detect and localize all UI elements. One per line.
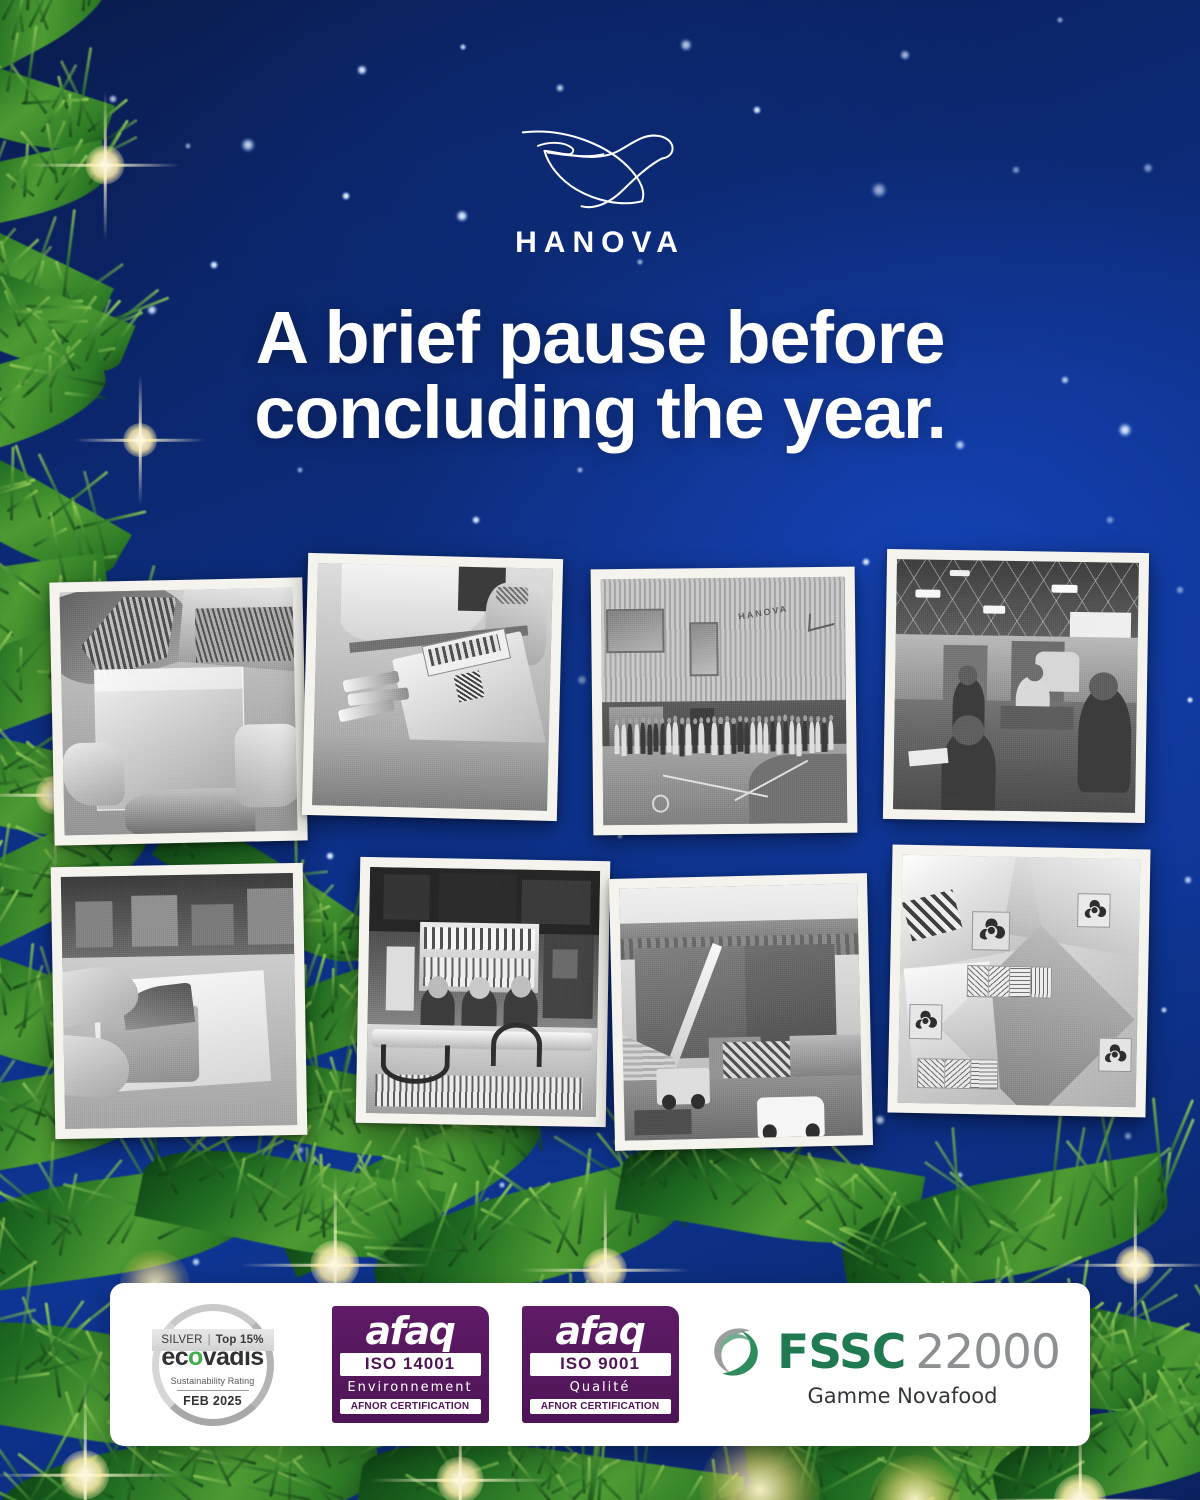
pine-needle xyxy=(562,1456,607,1483)
fish-market-vacuum-bag-photo xyxy=(59,588,297,836)
pine-needle xyxy=(416,1180,468,1254)
star-sparkle xyxy=(1183,875,1194,886)
pine-needle xyxy=(195,1139,245,1188)
pine-needle xyxy=(807,1155,849,1199)
pine-needle xyxy=(1062,1127,1086,1239)
pine-needle xyxy=(1177,1342,1200,1390)
pine-needle xyxy=(477,1197,529,1251)
star-sparkle xyxy=(621,1171,632,1182)
photo-frame-workshop[interactable] xyxy=(883,549,1149,823)
pine-needle xyxy=(350,1220,404,1255)
pine-needle xyxy=(1091,1353,1132,1412)
pine-needle xyxy=(749,1157,787,1206)
pine-needle xyxy=(864,1222,927,1256)
site-crane-works-photo xyxy=(619,883,863,1140)
pine-needle xyxy=(628,1164,639,1237)
pine-needle xyxy=(320,1154,326,1238)
photo-frame-biohazard-bags[interactable] xyxy=(887,845,1150,1118)
pine-needle xyxy=(11,0,25,41)
pine-needle xyxy=(309,1198,393,1238)
pine-needle xyxy=(839,1227,916,1267)
pine-needle xyxy=(462,1160,499,1236)
pine-needle xyxy=(1141,1300,1162,1361)
ecovadis-separator: | xyxy=(208,1334,211,1346)
pine-needle xyxy=(48,355,51,413)
afaq-domain-label: Environnement xyxy=(347,1380,472,1395)
pine-needle xyxy=(24,26,37,104)
photo-frame-fish-market[interactable] xyxy=(49,577,307,845)
photo-frame-group[interactable]: HANOVA xyxy=(591,567,858,836)
fssc-swirl-icon xyxy=(705,1321,767,1383)
pine-needle xyxy=(31,1319,79,1360)
pine-needle xyxy=(51,63,77,108)
pine-needle xyxy=(0,886,4,950)
ecovadis-level: SILVER xyxy=(161,1334,202,1346)
pine-needle xyxy=(949,1171,1019,1233)
pine-needle xyxy=(730,1144,802,1206)
pine-needle xyxy=(0,1200,5,1275)
pine-needle xyxy=(507,1451,552,1500)
brand-logo: HANOVA xyxy=(0,112,1200,260)
pine-needle xyxy=(190,1447,257,1466)
pine-needle xyxy=(152,1460,204,1487)
pine-needle xyxy=(38,1300,84,1364)
pine-needle xyxy=(337,1174,376,1209)
pine-needle xyxy=(304,1166,327,1215)
pine-needle xyxy=(330,1049,352,1131)
pine-needle xyxy=(405,1474,482,1500)
pine-needle xyxy=(796,1445,812,1500)
pine-needle xyxy=(0,1440,31,1494)
pine-needle xyxy=(887,1497,934,1500)
pine-needle xyxy=(264,1455,332,1490)
pine-needle xyxy=(0,822,10,904)
pine-needle xyxy=(65,1391,98,1492)
pine-needle xyxy=(490,1181,550,1230)
star-sparkle xyxy=(874,1114,887,1127)
star-sparkle xyxy=(325,851,336,862)
pine-needle xyxy=(18,965,44,1038)
pine-needle xyxy=(0,378,28,415)
star-sparkle xyxy=(1186,696,1194,704)
photo-frame-folding[interactable] xyxy=(51,863,308,1139)
star-sparkle xyxy=(40,555,51,566)
pine-needle xyxy=(115,1129,160,1203)
pine-needle xyxy=(293,1144,326,1224)
pine-needle xyxy=(47,1142,54,1226)
pine-needle xyxy=(191,1456,298,1477)
pine-needle xyxy=(798,1171,860,1219)
pine-needle xyxy=(0,482,31,503)
afaq-wordmark: afaq xyxy=(365,1314,454,1349)
pine-needle xyxy=(7,489,38,512)
fssc-subtitle: Gamme Novafood xyxy=(808,1384,998,1408)
pine-needle xyxy=(1012,1196,1062,1255)
star-sparkle xyxy=(356,64,369,77)
pine-needle xyxy=(556,1186,582,1253)
pine-needle xyxy=(333,1194,406,1285)
pine-needle xyxy=(873,1205,901,1266)
star-sparkle xyxy=(576,674,589,687)
pine-needle xyxy=(1005,1460,1085,1500)
pine-needle xyxy=(371,1452,425,1481)
star-sparkle xyxy=(209,260,220,271)
pine-needle xyxy=(25,0,49,31)
pine-needle xyxy=(366,1252,410,1271)
pine-needle xyxy=(493,1169,553,1210)
pine-needle xyxy=(77,1351,102,1413)
pine-needle xyxy=(230,1158,246,1219)
pine-needle xyxy=(0,1308,36,1341)
pine-needle xyxy=(1107,1440,1148,1477)
workshop-meeting-photo xyxy=(893,559,1139,813)
pine-needle xyxy=(588,1456,591,1500)
pine-needle xyxy=(0,385,15,429)
pine-needle xyxy=(579,1162,591,1235)
pine-needle xyxy=(274,1186,356,1227)
star-sparkle xyxy=(459,43,467,51)
pine-needle xyxy=(64,1477,114,1499)
pine-needle xyxy=(277,1471,344,1500)
pine-needle xyxy=(932,1447,991,1500)
pine-needle xyxy=(554,1472,583,1500)
afaq-standard-label: ISO 14001 xyxy=(340,1353,481,1376)
pine-needle xyxy=(0,478,35,497)
pine-needle xyxy=(416,1461,500,1490)
hands-folding-textile-photo xyxy=(61,873,297,1129)
pine-needle xyxy=(788,1446,829,1500)
fssc-22000-badge[interactable]: FSSC22000 Gamme Novafood xyxy=(695,1283,1070,1446)
pine-needle xyxy=(474,1181,479,1241)
pine-needle xyxy=(415,1137,438,1221)
star-sparkle xyxy=(1175,585,1186,596)
afaq-iso14001-badge[interactable]: afaq ISO 14001 Environnement AFNOR CERTI… xyxy=(315,1283,505,1446)
fssc-number: 22000 xyxy=(915,1325,1060,1380)
pine-needle xyxy=(932,1197,961,1249)
pine-needle xyxy=(307,1182,376,1222)
pine-needle xyxy=(1157,1099,1193,1182)
pine-needle xyxy=(0,65,1,104)
pine-needle xyxy=(21,98,88,105)
pine-needle xyxy=(934,1141,991,1228)
star-sparkle xyxy=(861,557,872,568)
pine-needle xyxy=(1049,1115,1061,1204)
pine-needle xyxy=(640,1150,679,1186)
pine-needle xyxy=(1097,1312,1131,1364)
pine-needle xyxy=(198,1139,284,1181)
ecovadis-medal: SILVER | Top 15% ecovadis Sustainability… xyxy=(152,1304,274,1426)
pine-needle xyxy=(715,1471,817,1500)
pine-needle xyxy=(40,0,74,23)
star-sparkle xyxy=(555,83,566,94)
pine-needle xyxy=(773,1149,823,1212)
star-sparkle xyxy=(763,1195,774,1206)
pine-needle xyxy=(290,1157,316,1224)
star-sparkle xyxy=(1123,1131,1134,1142)
photo-frame-operator-packaging[interactable] xyxy=(302,553,563,821)
pine-needle xyxy=(14,1265,33,1384)
photo-frame-production-line[interactable] xyxy=(356,857,611,1127)
biohazard-labelled-bags-photo xyxy=(898,855,1141,1108)
pine-needle xyxy=(1194,1284,1200,1384)
afaq-iso14001-plate: afaq ISO 14001 Environnement AFNOR CERTI… xyxy=(332,1306,489,1423)
pine-needle xyxy=(76,510,146,529)
star-sparkle xyxy=(956,1171,964,1179)
certification-bar: SILVER | Top 15% ecovadis Sustainability… xyxy=(110,1283,1090,1446)
pine-needle xyxy=(246,1173,334,1228)
pine-needle xyxy=(0,276,37,344)
pine-needle xyxy=(1157,1369,1200,1436)
pine-needle xyxy=(788,1456,886,1500)
pine-needle xyxy=(448,1182,512,1266)
pine-needle xyxy=(1155,1405,1195,1431)
pine-needle xyxy=(0,891,15,903)
star-sparkle xyxy=(191,1257,202,1268)
pine-needle xyxy=(1104,1159,1116,1237)
pine-needle xyxy=(22,943,33,1029)
pine-needle xyxy=(0,755,24,795)
pine-needle xyxy=(382,1155,444,1175)
pine-needle xyxy=(19,647,22,690)
pine-needle xyxy=(635,1144,647,1219)
pine-needle xyxy=(306,1146,312,1224)
pine-needle xyxy=(805,1220,888,1268)
pine-needle xyxy=(81,0,88,12)
pine-needle xyxy=(973,1213,1055,1255)
pine-needle xyxy=(1194,1362,1200,1419)
pine-needle xyxy=(1073,1114,1114,1227)
pine-needle xyxy=(1110,1319,1114,1390)
star-sparkle xyxy=(66,1246,74,1254)
star-sparkle xyxy=(108,94,119,105)
pine-needle xyxy=(0,323,1,391)
pine-needle xyxy=(1174,1401,1200,1414)
pine-needle xyxy=(295,1204,344,1227)
pine-needle xyxy=(37,1162,82,1237)
pine-needle xyxy=(0,1170,27,1259)
pine-needle xyxy=(0,549,9,595)
pine-needle xyxy=(83,471,108,558)
afaq-iso9001-plate: afaq ISO 9001 Qualité AFNOR CERTIFICATIO… xyxy=(522,1306,679,1423)
star-sparkle xyxy=(1105,515,1116,526)
pine-needle xyxy=(0,596,13,637)
pine-needle xyxy=(851,1191,896,1278)
pine-needle xyxy=(362,1126,406,1198)
pine-needle xyxy=(601,1193,657,1241)
pine-needle xyxy=(1090,1324,1142,1385)
pine-needle xyxy=(43,1317,91,1366)
pine-needle xyxy=(433,1440,463,1491)
pine-needle xyxy=(842,1227,890,1244)
pine-needle xyxy=(1156,1364,1200,1371)
production-line-team-photo xyxy=(366,867,600,1117)
pine-needle xyxy=(59,1173,78,1256)
pine-needle xyxy=(14,444,41,518)
pine-needle xyxy=(830,1145,883,1200)
star-sparkle xyxy=(679,38,694,53)
pine-needle xyxy=(613,1139,639,1223)
headline-line-2: concluding the year. xyxy=(60,375,1140,450)
pine-needle xyxy=(51,1158,122,1245)
pine-needle xyxy=(0,1442,7,1500)
pine-needle xyxy=(0,1190,68,1223)
pine-needle xyxy=(319,903,326,937)
pine-needle xyxy=(87,0,97,7)
star-sparkle xyxy=(1056,16,1064,24)
afaq-iso9001-badge[interactable]: afaq ISO 9001 Qualité AFNOR CERTIFICATIO… xyxy=(505,1283,695,1446)
pine-needle xyxy=(851,1178,856,1225)
pine-needle xyxy=(0,631,13,710)
pine-needle xyxy=(11,0,24,33)
pine-needle xyxy=(0,397,2,425)
pine-needle xyxy=(452,1124,494,1134)
pine-needle xyxy=(671,1475,704,1500)
pine-needle xyxy=(4,290,21,327)
pine-needle xyxy=(1012,1449,1067,1485)
pine-needle xyxy=(1148,1392,1188,1445)
pine-needle xyxy=(1085,1359,1138,1375)
pine-needle xyxy=(1102,1267,1173,1340)
pine-needle xyxy=(416,1182,457,1289)
dove-bird-icon xyxy=(516,112,684,220)
pine-needle xyxy=(392,1178,402,1226)
pine-needle xyxy=(19,340,55,386)
pine-needle xyxy=(120,1194,147,1243)
pine-needle xyxy=(1086,1430,1147,1457)
star-sparkle xyxy=(498,1181,506,1189)
pine-needle xyxy=(1006,1452,1010,1500)
pine-needle xyxy=(551,1459,620,1494)
pine-needle xyxy=(1150,1119,1194,1222)
operator-handling-packaging-photo xyxy=(312,563,553,811)
pine-needle xyxy=(158,1207,221,1240)
pine-needle xyxy=(258,1124,312,1213)
company-group-photo: HANOVA xyxy=(601,577,848,826)
pine-needle xyxy=(806,1152,846,1227)
pine-needle xyxy=(343,1154,372,1211)
pine-needle xyxy=(0,906,12,991)
afaq-body-label: AFNOR CERTIFICATION xyxy=(340,1399,481,1414)
afaq-body-label: AFNOR CERTIFICATION xyxy=(530,1399,671,1414)
pine-needle xyxy=(859,1163,912,1217)
pine-needle xyxy=(364,1247,465,1253)
pine-needle xyxy=(439,1122,455,1162)
pine-needle xyxy=(65,555,117,563)
pine-needle xyxy=(572,1464,609,1500)
pine-needle xyxy=(0,720,60,799)
pine-needle xyxy=(258,1174,321,1235)
pine-needle xyxy=(71,497,84,572)
pine-needle xyxy=(1178,1378,1200,1427)
pine-needle xyxy=(1065,1140,1114,1201)
brand-wordmark: HANOVA xyxy=(515,226,685,260)
pine-needle xyxy=(309,1022,322,1104)
pine-needle xyxy=(26,0,36,11)
pine-needle xyxy=(10,447,14,521)
ecovadis-rank: Top 15% xyxy=(216,1334,264,1346)
pine-needle xyxy=(852,1173,895,1210)
pine-needle xyxy=(0,309,42,313)
pine-needle xyxy=(0,894,33,902)
pine-needle xyxy=(0,1159,72,1235)
afaq-wordmark: afaq xyxy=(555,1314,644,1349)
pine-needle xyxy=(488,1165,561,1220)
page-title: A brief pause before concluding the year… xyxy=(60,300,1140,451)
pine-needle xyxy=(1196,1338,1200,1379)
pine-needle xyxy=(357,1164,399,1213)
pine-needle xyxy=(107,1175,157,1244)
pine-needle xyxy=(33,527,68,547)
pine-needle xyxy=(0,889,19,975)
pine-needle xyxy=(690,1471,739,1500)
pine-needle xyxy=(313,1155,360,1210)
pine-needle xyxy=(1123,1330,1146,1398)
pine-needle xyxy=(0,1475,60,1500)
pine-needle xyxy=(425,1196,490,1264)
pine-needle xyxy=(283,1174,291,1251)
pine-needle xyxy=(2,0,45,20)
pine-needle xyxy=(0,736,7,786)
pine-needle xyxy=(357,1154,407,1254)
pine-needle xyxy=(1149,1355,1200,1410)
pine-needle xyxy=(1168,1389,1192,1429)
pine-needle xyxy=(36,974,52,1058)
pine-needle xyxy=(62,1184,176,1218)
pine-needle xyxy=(17,1453,111,1500)
pine-needle xyxy=(0,1372,50,1385)
pine-needle xyxy=(329,1056,350,1118)
photo-frame-site-works[interactable] xyxy=(609,873,873,1151)
pine-needle xyxy=(335,1174,338,1239)
pine-needle xyxy=(1099,1147,1171,1207)
pine-needle xyxy=(49,513,66,583)
pine-needle xyxy=(951,1194,959,1253)
pine-needle xyxy=(0,1060,15,1130)
star-sparkle xyxy=(1160,1006,1168,1014)
ecovadis-badge[interactable]: SILVER | Top 15% ecovadis Sustainability… xyxy=(110,1283,315,1446)
pine-needle xyxy=(924,1161,1017,1226)
pine-needle xyxy=(333,922,337,998)
pine-needle xyxy=(0,1083,47,1118)
pine-needle xyxy=(323,913,354,944)
pine-needle xyxy=(21,1296,46,1354)
pine-needle xyxy=(1161,1151,1171,1209)
pine-needle xyxy=(259,1129,279,1178)
pine-needle xyxy=(217,1160,225,1214)
pine-needle xyxy=(9,63,47,114)
pine-needle xyxy=(645,1149,687,1197)
pine-needle xyxy=(953,1456,1036,1489)
pine-needle xyxy=(831,1240,899,1279)
pine-needle xyxy=(987,1441,1078,1483)
pine-needle xyxy=(193,1474,311,1500)
pine-needle xyxy=(374,1169,379,1228)
pine-needle xyxy=(1089,1302,1121,1381)
pine-needle xyxy=(385,1155,400,1211)
pine-needle xyxy=(863,1167,940,1245)
star-sparkle xyxy=(899,49,912,62)
pine-needle xyxy=(319,1139,372,1229)
pine-needle xyxy=(0,954,6,1015)
pine-needle xyxy=(0,1260,37,1334)
pine-needle xyxy=(674,1173,712,1212)
pine-needle xyxy=(0,840,3,908)
pine-needle xyxy=(0,634,23,703)
ecovadis-ribbon: SILVER | Top 15% xyxy=(152,1329,274,1351)
pine-needle xyxy=(989,1220,1047,1251)
afaq-standard-label: ISO 9001 xyxy=(530,1353,671,1376)
pine-needle xyxy=(629,1464,664,1500)
